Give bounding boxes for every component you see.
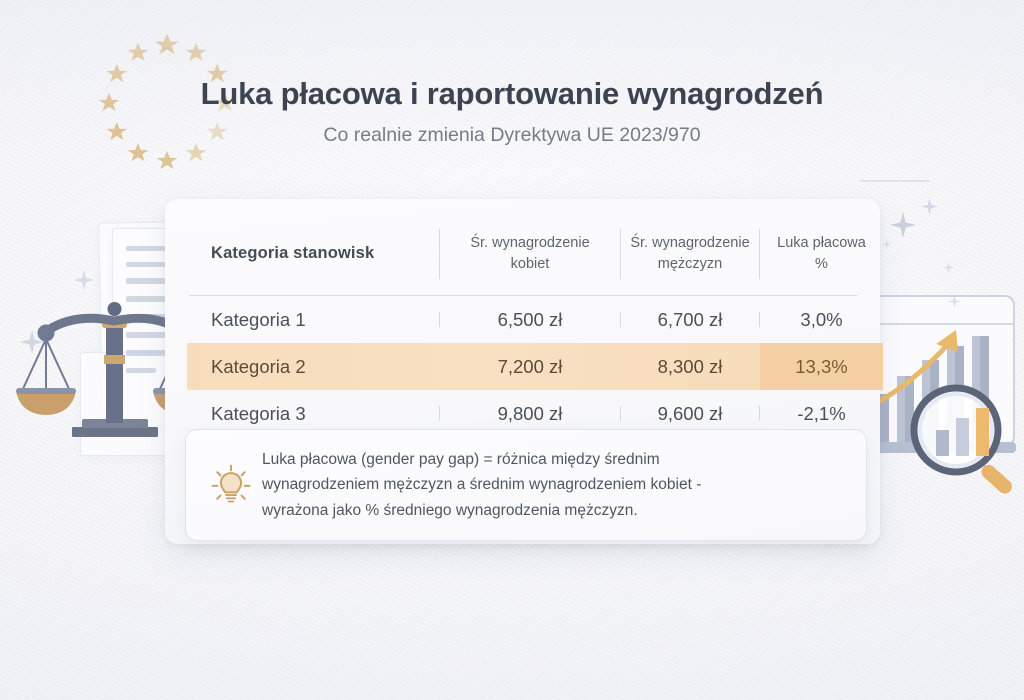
column-header-category: Kategoria stanowisk [187, 213, 439, 295]
column-header-pay-gap: Luka płacowa % [760, 213, 883, 295]
cell-pay-gap: 13,3% [760, 343, 883, 390]
sparkle-icon [74, 270, 94, 290]
divider-line-decoration [860, 180, 930, 182]
header-block: Luka płacowa i raportowanie wynagrodzeń … [0, 76, 1024, 147]
column-header-pay-gap-line2: % [777, 254, 866, 275]
sparkle-icon [20, 330, 44, 354]
column-header-pay-gap-line1: Luka płacowa [777, 233, 866, 254]
cell-men-salary: 6,700 zł [621, 296, 759, 343]
lightbulb-icon [209, 463, 253, 507]
column-header-men-salary: Śr. wynagrodzenie mężczyzn [621, 213, 759, 295]
poster-canvas: Luka płacowa i raportowanie wynagrodzeń … [0, 0, 1024, 700]
sparkle-icon [882, 240, 891, 249]
cell-pay-gap: 3,0% [760, 296, 883, 343]
pay-gap-table: Kategoria stanowisk Śr. wynagrodzenie ko… [187, 213, 859, 441]
definition-note-box: Luka płacowa (gender pay gap) = różnica … [185, 429, 867, 541]
cell-women-salary: 6,500 zł [440, 296, 620, 343]
column-header-women-salary-line1: Śr. wynagrodzenie [470, 233, 589, 254]
column-header-men-salary-line2: mężczyzn [630, 254, 749, 275]
table-header-row: Kategoria stanowisk Śr. wynagrodzenie ko… [187, 213, 859, 295]
definition-line-2: wynagrodzeniem mężczyzn a średnim wynagr… [262, 472, 701, 497]
sparkle-icon [943, 262, 954, 273]
cell-category: Kategoria 1 [187, 296, 439, 343]
cell-men-salary: 8,300 zł [621, 343, 759, 390]
definition-line-1: Luka płacowa (gender pay gap) = różnica … [262, 447, 701, 472]
table-row[interactable]: Kategoria 1 6,500 zł 6,700 zł 3,0% [187, 296, 859, 343]
table-body: Kategoria 1 6,500 zł 6,700 zł 3,0% Kateg… [187, 296, 859, 437]
column-header-women-salary: Śr. wynagrodzenie kobiet [440, 213, 620, 295]
definition-line-3: wyrażona jako % średniego wynagrodzenia … [262, 498, 701, 523]
sparkle-icon [948, 295, 961, 308]
page-subtitle: Co realnie zmienia Dyrektywa UE 2023/970 [0, 124, 1024, 147]
column-header-men-salary-line1: Śr. wynagrodzenie [630, 233, 749, 254]
definition-note-text: Luka płacowa (gender pay gap) = różnica … [262, 447, 727, 522]
cell-women-salary: 7,200 zł [440, 343, 620, 390]
column-header-women-salary-line2: kobiet [470, 254, 589, 275]
sparkle-icon [921, 198, 938, 215]
page-title: Luka płacowa i raportowanie wynagrodzeń [0, 76, 1024, 113]
sparkle-icon [890, 212, 916, 238]
lightbulb-icon-wrap [186, 463, 262, 507]
table-row-highlighted[interactable]: Kategoria 2 7,200 zł 8,300 zł 13,3% [187, 343, 859, 390]
cell-category: Kategoria 2 [187, 343, 439, 390]
